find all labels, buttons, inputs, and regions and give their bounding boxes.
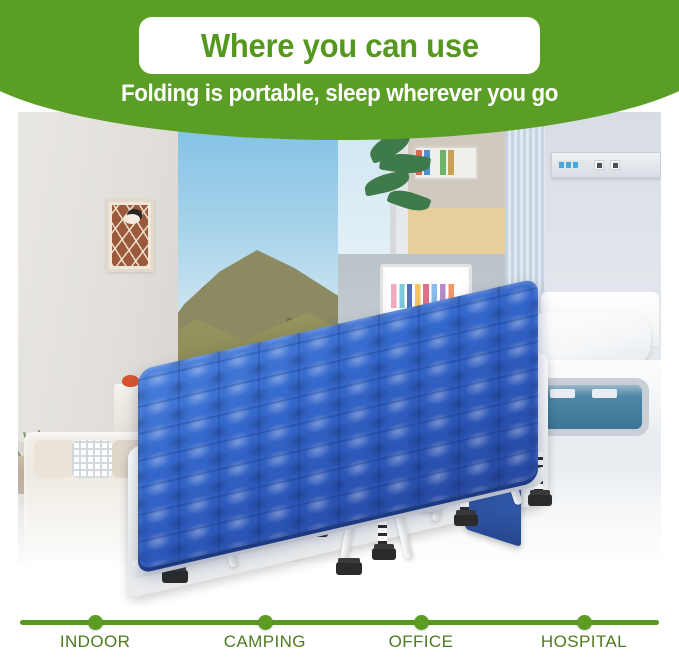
scene-timeline: INDOORCAMPINGOFFICEHOSPITAL <box>0 612 679 657</box>
timeline-dot-camping[interactable] <box>258 615 273 630</box>
cot-foot <box>336 562 362 575</box>
cot-foot <box>372 548 396 560</box>
cot-foot <box>528 494 552 506</box>
timeline-label-indoor: INDOOR <box>60 632 130 652</box>
infographic-canvas: Where you can use Folding is portable, s… <box>0 0 679 657</box>
title-pill: Where you can use <box>139 17 540 74</box>
timeline-label-camping: CAMPING <box>224 632 306 652</box>
timeline-dot-hospital[interactable] <box>577 615 592 630</box>
wall-art-frame <box>106 199 154 272</box>
timeline-track <box>20 620 659 625</box>
timeline-label-office: OFFICE <box>389 632 454 652</box>
header-content: Where you can use Folding is portable, s… <box>0 0 679 120</box>
wall-art-image <box>112 205 148 266</box>
art-figure-neck <box>124 214 140 224</box>
cot-foot <box>162 570 188 583</box>
office-plant <box>362 130 458 240</box>
timeline-dot-office[interactable] <box>414 615 429 630</box>
wall-outlet <box>610 160 620 170</box>
timeline-label-hospital: HOSPITAL <box>541 632 627 652</box>
wall-outlet <box>594 160 604 170</box>
product-folding-cot <box>110 300 580 630</box>
panel-indicator-lights <box>557 160 585 170</box>
timeline-dot-indoor[interactable] <box>88 615 103 630</box>
medical-wall-panel <box>551 152 661 178</box>
page-title: Where you can use <box>201 29 479 62</box>
cot-foot <box>454 514 478 526</box>
page-subtitle: Folding is portable, sleep wherever you … <box>24 82 655 106</box>
